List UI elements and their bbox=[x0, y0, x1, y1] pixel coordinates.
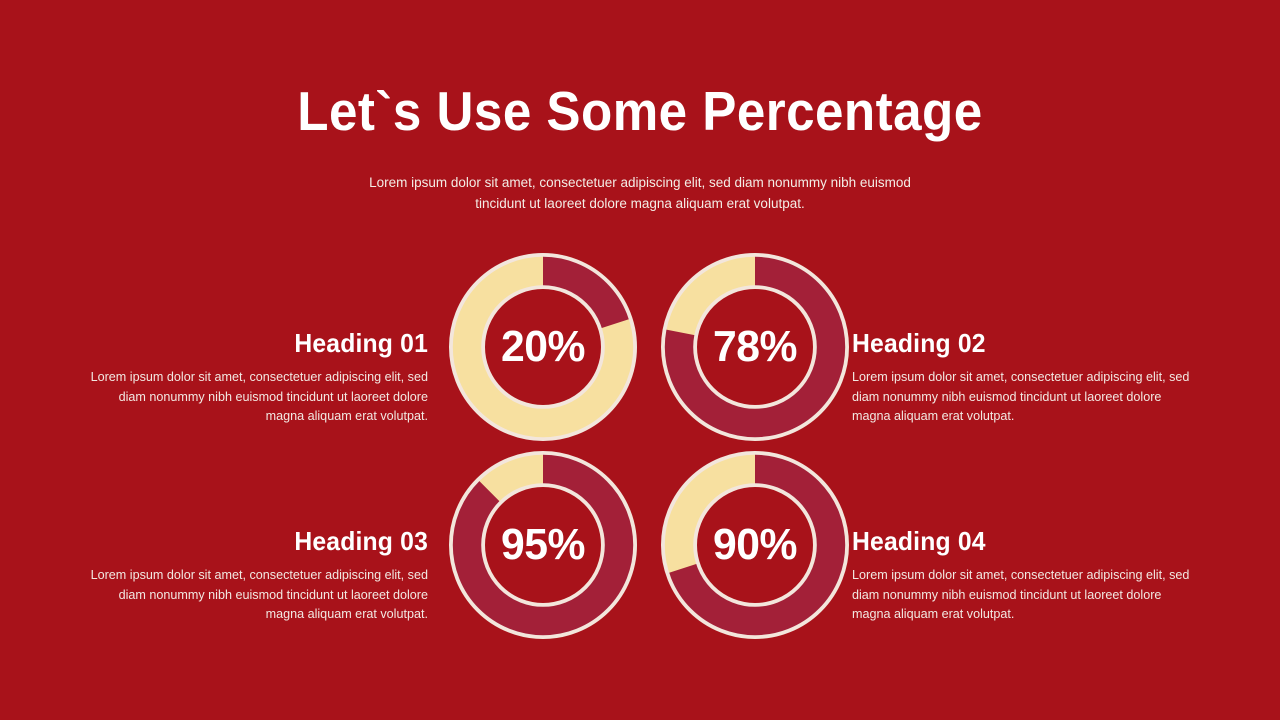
donut-chart-01[interactable]: 20% bbox=[448, 252, 638, 442]
donut-chart-03[interactable]: 95% bbox=[448, 450, 638, 640]
text-block-01: Heading 01 Lorem ipsum dolor sit amet, c… bbox=[80, 328, 428, 427]
donut-inner-hairline-03 bbox=[482, 484, 604, 606]
donut-value-arc-03 bbox=[467, 469, 619, 621]
donut-svg-02 bbox=[660, 252, 850, 442]
donut-chart-04[interactable]: 90% bbox=[660, 450, 850, 640]
body-text-04: Lorem ipsum dolor sit amet, consectetuer… bbox=[852, 566, 1200, 625]
donut-svg-04 bbox=[660, 450, 850, 640]
page-title: Let`s Use Some Percentage bbox=[45, 78, 1235, 144]
donut-inner-hairline-01 bbox=[482, 286, 604, 408]
percentage-item-04: 90% Heading 04 Lorem ipsum dolor sit ame… bbox=[660, 450, 1260, 650]
body-text-01: Lorem ipsum dolor sit amet, consectetuer… bbox=[80, 368, 428, 427]
donut-inner-hairline-02 bbox=[694, 286, 816, 408]
text-block-04: Heading 04 Lorem ipsum dolor sit amet, c… bbox=[852, 526, 1200, 625]
heading-01: Heading 01 bbox=[97, 328, 428, 358]
page-subtitle: Lorem ipsum dolor sit amet, consectetuer… bbox=[368, 172, 913, 214]
body-text-03: Lorem ipsum dolor sit amet, consectetuer… bbox=[80, 566, 428, 625]
donut-inner-hairline-04 bbox=[694, 484, 816, 606]
slide-root: Let`s Use Some Percentage Lorem ipsum do… bbox=[0, 0, 1280, 720]
percentage-item-02: 78% Heading 02 Lorem ipsum dolor sit ame… bbox=[660, 252, 1260, 452]
heading-03: Heading 03 bbox=[97, 526, 428, 556]
donut-svg-01 bbox=[448, 252, 638, 442]
heading-02: Heading 02 bbox=[852, 328, 1183, 358]
heading-04: Heading 04 bbox=[852, 526, 1183, 556]
text-block-02: Heading 02 Lorem ipsum dolor sit amet, c… bbox=[852, 328, 1200, 427]
percentage-item-01: 20% Heading 01 Lorem ipsum dolor sit ame… bbox=[20, 252, 620, 452]
donut-chart-02[interactable]: 78% bbox=[660, 252, 850, 442]
percentage-item-03: 95% Heading 03 Lorem ipsum dolor sit ame… bbox=[20, 450, 620, 650]
donut-svg-03 bbox=[448, 450, 638, 640]
text-block-03: Heading 03 Lorem ipsum dolor sit amet, c… bbox=[80, 526, 428, 625]
body-text-02: Lorem ipsum dolor sit amet, consectetuer… bbox=[852, 368, 1200, 427]
